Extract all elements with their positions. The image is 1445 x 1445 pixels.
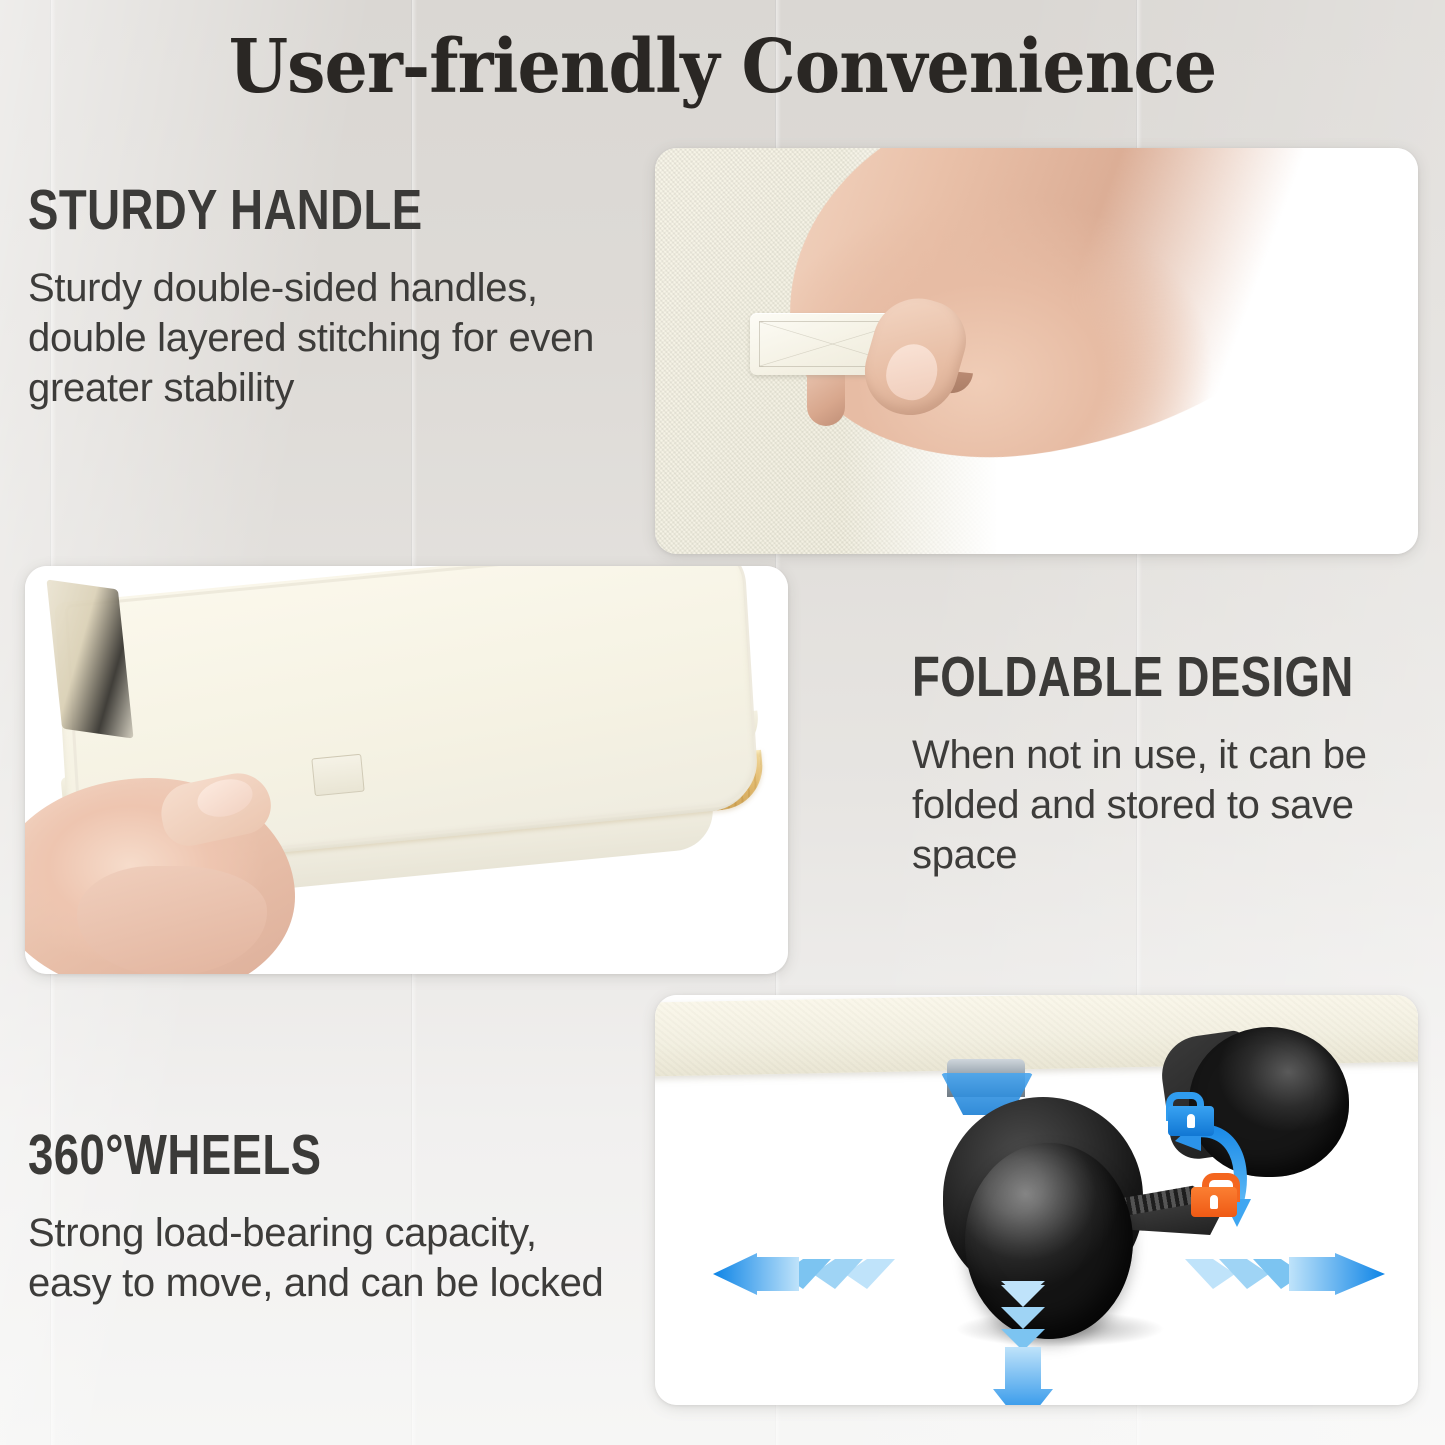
feature-block-sturdy-handle: STURDY HANDLE Sturdy double-sided handle… xyxy=(28,183,628,413)
feature-description-360-wheels: Strong load-bearing capacity, easy to mo… xyxy=(28,1208,628,1308)
finger-tip xyxy=(807,370,845,426)
unlocked-padlock-icon xyxy=(1168,1092,1214,1136)
page-title: User-friendly Convenience xyxy=(58,24,1387,110)
folded-photo xyxy=(25,566,788,974)
arrow-left-icon xyxy=(695,1253,895,1295)
arrow-right-icon xyxy=(1185,1253,1400,1295)
feature-title-sturdy-handle: STURDY HANDLE xyxy=(28,183,508,237)
handle-photo xyxy=(655,148,1418,554)
infographic-root: User-friendly Convenience STURDY HANDLE … xyxy=(0,0,1445,1445)
feature-title-360-wheels: 360°WHEELS xyxy=(28,1128,508,1182)
feature-block-foldable-design: FOLDABLE DESIGN When not in use, it can … xyxy=(912,650,1432,880)
feature-title-foldable-design: FOLDABLE DESIGN xyxy=(912,650,1328,704)
feature-description-foldable-design: When not in use, it can be folded and st… xyxy=(912,730,1432,880)
feature-description-sturdy-handle: Sturdy double-sided handles, double laye… xyxy=(28,263,628,413)
feature-block-360-wheels: 360°WHEELS Strong load-bearing capacity,… xyxy=(28,1128,628,1308)
arrow-down-icon xyxy=(993,1281,1053,1405)
locked-padlock-icon xyxy=(1191,1173,1237,1217)
wheels-photo xyxy=(655,995,1418,1405)
lid-latch-tab xyxy=(311,754,364,797)
